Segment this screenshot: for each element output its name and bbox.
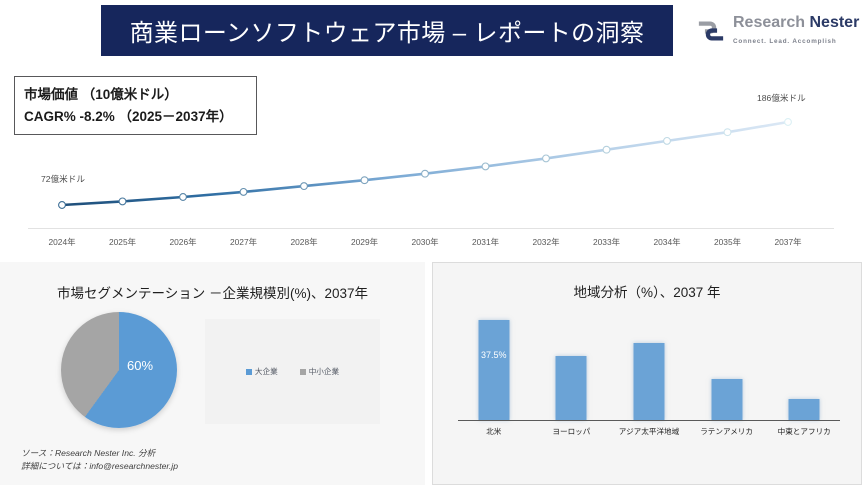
line-data-point — [664, 138, 671, 145]
bar — [711, 379, 742, 420]
regional-analysis-title: 地域分析（%）、2037 年 — [433, 281, 861, 301]
line-data-point — [603, 146, 610, 153]
bar — [556, 356, 587, 420]
x-axis-tick-label: 2031年 — [472, 236, 499, 248]
pie-legend-label: 大企業 — [255, 366, 278, 377]
bar: 37.5% — [478, 320, 509, 420]
source-line-2: 詳細については：info@researchnester.jp — [21, 460, 178, 473]
bar-category-label: 中東とアフリカ — [778, 426, 831, 437]
bar-value-label: 37.5% — [481, 350, 507, 360]
source-note: ソース：Research Nester Inc. 分析 詳細については：info… — [21, 447, 178, 473]
x-axis-tick-label: 2025年 — [109, 236, 136, 248]
line-chart-svg — [0, 60, 862, 245]
research-nester-logo-icon — [696, 18, 726, 44]
bar-category-label: 北米 — [486, 426, 501, 437]
x-axis-tick-label: 2026年 — [169, 236, 196, 248]
logo-name: Research Nester — [733, 14, 859, 31]
x-axis-tick-label: 2024年 — [48, 236, 75, 248]
logo-tagline: Connect. Lead. Accomplish — [733, 38, 837, 45]
x-axis-tick-label: 2032年 — [532, 236, 559, 248]
pie-legend-label: 中小企業 — [309, 366, 339, 377]
header-banner: 商業ローンソフトウェア市場 – レポートの洞察 — [101, 5, 673, 56]
segmentation-title: 市場セグメンテーション －企業規模別(%)、2037年 — [0, 282, 425, 302]
line-chart-x-axis: 2024年2025年2026年2027年2028年2029年2030年2031年… — [0, 228, 862, 256]
line-data-point — [59, 202, 66, 209]
segmentation-pie-chart: 60% — [61, 312, 177, 428]
line-data-point — [240, 189, 247, 196]
x-axis-tick-label: 2035年 — [714, 236, 741, 248]
x-axis-tick-label: 2029年 — [351, 236, 378, 248]
bar-category-label: アジア太平洋地域 — [619, 426, 679, 437]
bar — [789, 399, 820, 420]
pie-legend-item: 大企業 — [246, 366, 278, 377]
line-data-point — [724, 129, 731, 136]
bar-slot: 37.5% — [455, 308, 533, 420]
bar — [633, 343, 664, 420]
legend-swatch-icon — [300, 369, 306, 375]
x-axis-tick-label: 2037年 — [774, 236, 801, 248]
bar-category-label: ラテンアメリカ — [700, 426, 753, 437]
regional-bar-chart: 37.5% — [455, 308, 843, 420]
logo-name-part2: Nester — [810, 14, 860, 31]
regional-analysis-panel: 地域分析（%）、2037 年 37.5% 北米ヨーロッパアジア太平洋地域ラテンア… — [432, 262, 862, 485]
line-data-point — [785, 119, 792, 126]
line-data-point — [482, 163, 489, 170]
source-line-1: ソース：Research Nester Inc. 分析 — [21, 447, 178, 460]
line-start-value-label: 72億米ドル — [41, 173, 85, 185]
bar-chart-baseline — [458, 420, 840, 421]
research-nester-logo: Research Nester Connect. Lead. Accomplis… — [696, 13, 856, 49]
x-axis-tick-label: 2030年 — [411, 236, 438, 248]
pie-legend-item: 中小企業 — [300, 366, 339, 377]
logo-text: Research Nester Connect. Lead. Accomplis… — [733, 15, 859, 47]
logo-name-part1: Research — [733, 14, 805, 31]
bar-slot — [610, 308, 688, 420]
pie-legend: 大企業中小企業 — [205, 366, 380, 377]
report-infographic-page: 商業ローンソフトウェア市場 – レポートの洞察 Research Nester … — [0, 0, 862, 485]
line-data-point — [180, 194, 187, 201]
legend-swatch-icon — [246, 369, 252, 375]
pie-slice-value-large-enterprise: 60% — [127, 358, 153, 373]
market-value-line-chart: 72億米ドル 186億米ドル — [0, 60, 862, 245]
line-data-point — [119, 198, 126, 205]
line-data-point — [361, 177, 368, 184]
bar-category-label: ヨーロッパ — [552, 426, 590, 437]
line-data-point — [422, 170, 429, 177]
x-axis-line — [28, 228, 834, 229]
pie-disc — [61, 312, 177, 428]
x-axis-tick-label: 2028年 — [290, 236, 317, 248]
line-data-point — [301, 183, 308, 190]
bar-slot — [765, 308, 843, 420]
x-axis-tick-label: 2027年 — [230, 236, 257, 248]
line-end-value-label: 186億米ドル — [757, 92, 806, 104]
line-data-point — [543, 155, 550, 162]
bar-slot — [533, 308, 611, 420]
bar-slot — [688, 308, 766, 420]
x-axis-tick-label: 2034年 — [653, 236, 680, 248]
segmentation-panel: 市場セグメンテーション －企業規模別(%)、2037年 60% 大企業中小企業 … — [0, 262, 425, 485]
page-title: 商業ローンソフトウェア市場 – レポートの洞察 — [130, 13, 645, 48]
x-axis-tick-label: 2033年 — [593, 236, 620, 248]
